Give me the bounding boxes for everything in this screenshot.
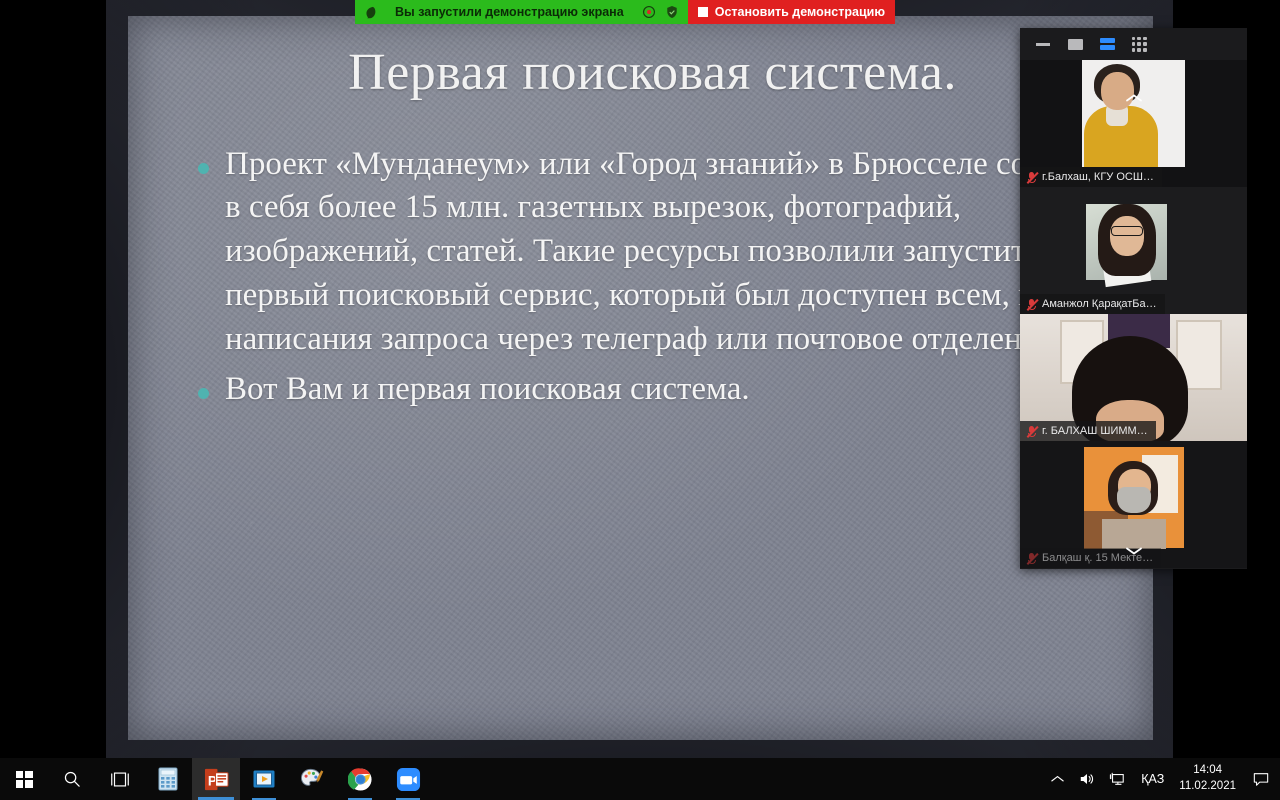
speaker-view-icon[interactable]	[1094, 33, 1120, 55]
share-status-strip: Вы запустили демонстрацию экрана	[355, 0, 688, 24]
participant-name: г.Балхаш, КГУ ОСШ…	[1042, 171, 1154, 183]
gallery-grid-icon[interactable]	[1126, 33, 1152, 55]
paint-3d-icon[interactable]	[288, 758, 336, 800]
calculator-icon[interactable]	[144, 758, 192, 800]
screen-share-bar: Вы запустили демонстрацию экрана Останов…	[355, 0, 895, 24]
language-indicator[interactable]: ҚАЗ	[1132, 758, 1173, 800]
powerpoint-icon[interactable]: P	[192, 758, 240, 800]
participant-name-bar: Аманжол ҚарақатБа…	[1020, 294, 1165, 314]
chevron-down-icon[interactable]	[1125, 546, 1143, 556]
video-panel-toolbar	[1020, 28, 1247, 60]
task-view-icon[interactable]	[96, 758, 144, 800]
system-tray: ҚАЗ 14:04 11.02.2021	[1042, 758, 1280, 800]
slide-content: Первая поисковая система. Проект «Мундан…	[106, 0, 1173, 760]
bullet-text: Вот Вам и первая поисковая система.	[225, 368, 750, 412]
participant-name: Аманжол ҚарақатБа…	[1042, 298, 1157, 310]
stop-square-icon	[698, 7, 708, 17]
windows-taskbar: P ҚАЗ	[0, 758, 1280, 800]
mic-muted-icon	[1026, 298, 1037, 311]
participant-name-bar: г.Балхаш, КГУ ОСШ…	[1020, 167, 1162, 187]
notification-icon[interactable]	[1246, 758, 1276, 800]
slide-title: Первая поисковая система.	[198, 46, 1115, 101]
bullet-item: Вот Вам и первая поисковая система.	[198, 368, 1115, 412]
share-status-text: Вы запустили демонстрацию экрана	[385, 5, 634, 19]
mic-muted-icon	[1026, 552, 1037, 565]
mic-muted-icon	[1026, 425, 1037, 438]
stop-share-button[interactable]: Остановить демонстрацию	[688, 0, 895, 24]
taskbar-apps: P	[0, 758, 432, 800]
participant-tile[interactable]: г.Балхаш, КГУ ОСШ…	[1020, 60, 1247, 187]
bullet-text: Проект «Мунданеум» или «Город знаний» в …	[225, 143, 1115, 362]
participant-name: г. БАЛХАШ ШИММ…	[1042, 425, 1148, 437]
clock-time: 14:04	[1179, 763, 1236, 779]
desktop: Первая поисковая система. Проект «Мундан…	[0, 0, 1280, 800]
zoom-video-panel[interactable]: г.Балхаш, КГУ ОСШ… Аманжол ҚарақатБа… г.…	[1020, 28, 1247, 569]
zoom-leaf-icon	[363, 5, 377, 19]
shield-icon[interactable]	[665, 5, 680, 20]
participant-tile[interactable]: г. БАЛХАШ ШИММ…	[1020, 314, 1247, 441]
maximize-icon[interactable]	[1062, 33, 1088, 55]
clock[interactable]: 14:04 11.02.2021	[1173, 763, 1246, 794]
stop-share-label: Остановить демонстрацию	[715, 5, 885, 19]
minimize-icon[interactable]	[1030, 33, 1056, 55]
windows-start-icon[interactable]	[0, 758, 48, 800]
clock-date: 11.02.2021	[1179, 779, 1236, 795]
movies-tv-icon[interactable]	[240, 758, 288, 800]
bullet-dot-icon	[198, 163, 209, 174]
network-monitor-icon[interactable]	[1102, 758, 1132, 800]
speaker-icon[interactable]	[1072, 758, 1102, 800]
bullet-dot-icon	[198, 388, 209, 399]
chrome-icon[interactable]	[336, 758, 384, 800]
participant-name-bar: г. БАЛХАШ ШИММ…	[1020, 421, 1156, 441]
slide-bullet-list: Проект «Мунданеум» или «Город знаний» в …	[198, 143, 1115, 412]
chevron-up-icon[interactable]	[1042, 758, 1072, 800]
powerpoint-slideshow[interactable]: Первая поисковая система. Проект «Мундан…	[106, 0, 1173, 760]
chevron-up-icon[interactable]	[1125, 93, 1143, 103]
record-dot-icon[interactable]	[642, 5, 657, 20]
search-icon[interactable]	[48, 758, 96, 800]
participant-tile[interactable]: Балқаш қ. 15 Мекте…	[1020, 441, 1247, 568]
bullet-item: Проект «Мунданеум» или «Город знаний» в …	[198, 143, 1115, 362]
participant-tile[interactable]: Аманжол ҚарақатБа…	[1020, 187, 1247, 314]
zoom-icon[interactable]	[384, 758, 432, 800]
mic-muted-icon	[1026, 171, 1037, 184]
